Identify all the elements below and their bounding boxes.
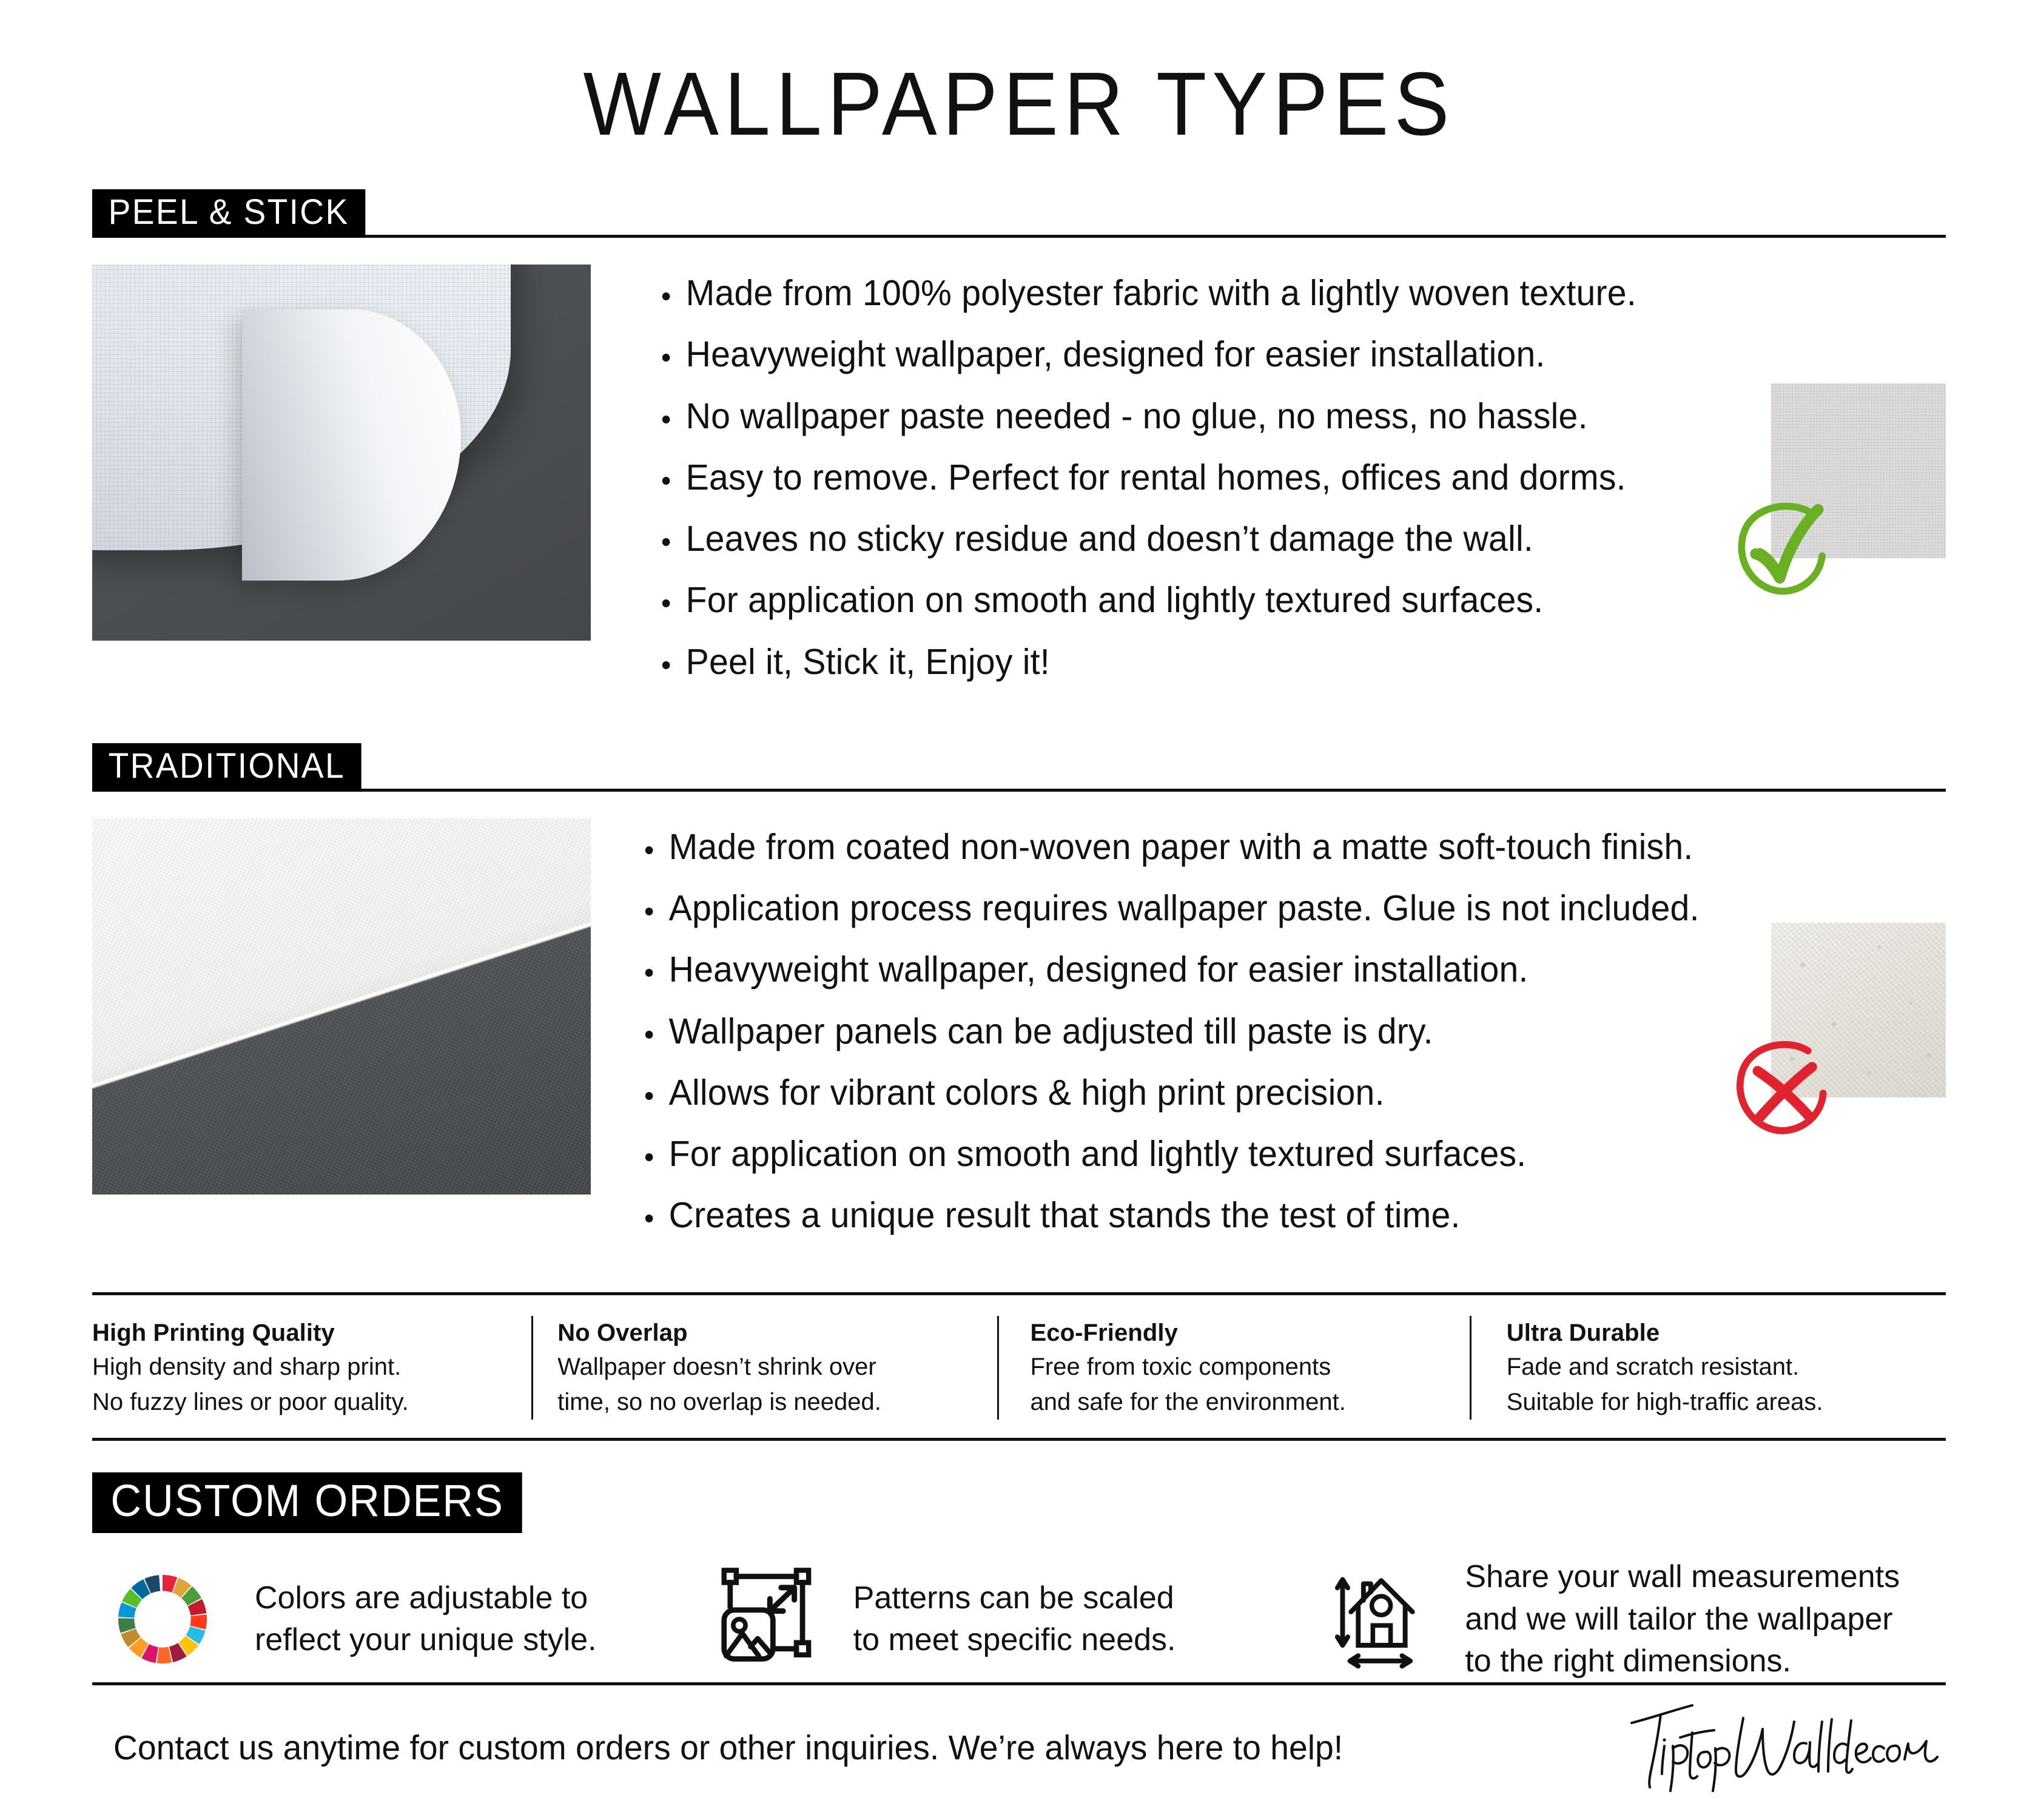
- feature-line: No fuzzy lines or poor quality.: [92, 1385, 507, 1420]
- image-resize-icon: [710, 1565, 832, 1673]
- custom-order-line: and we will tailor the wallpaper: [1465, 1599, 1900, 1640]
- custom-order-line: to meet specific needs.: [853, 1619, 1176, 1661]
- list-item: Allows for vibrant colors & high print p…: [642, 1073, 1907, 1113]
- list-item: Wallpaper panels can be adjusted till pa…: [642, 1011, 1907, 1052]
- product-block-traditional: Made from coated non-woven paper with a …: [92, 818, 1946, 1257]
- brand-logo: Tiptop Walldecor: [1624, 1702, 1946, 1793]
- section-header-custom-orders: CUSTOM ORDERS: [92, 1472, 1946, 1532]
- list-item: Made from 100% polyester fabric with a l…: [659, 273, 1907, 314]
- section-divider-rule: [92, 235, 1946, 238]
- feature-strip: High Printing Quality High density and s…: [92, 1292, 1946, 1441]
- custom-order-item-measurements: Share your wall measurements and we will…: [1328, 1556, 1946, 1682]
- peel-stick-sample-photo: [92, 265, 591, 641]
- traditional-swatch-group: [1771, 923, 1946, 1097]
- feature-line: Free from toxic components: [1031, 1350, 1445, 1385]
- list-item: Application process requires wallpaper p…: [642, 888, 1907, 929]
- feature-line: High density and sharp print.: [92, 1350, 507, 1385]
- section-header-traditional: TRADITIONAL: [92, 743, 1946, 792]
- section-divider-rule: [92, 789, 1946, 792]
- house-measure-icon: [1328, 1563, 1443, 1676]
- feature-line: time, so no overlap is needed.: [557, 1385, 972, 1420]
- feature-line: Wallpaper doesn’t shrink over: [557, 1350, 972, 1385]
- list-item: Heavyweight wallpaper, designed for easi…: [659, 334, 1907, 375]
- custom-order-line: Share your wall measurements: [1465, 1556, 1900, 1598]
- custom-orders-row: Colors are adjustable to reflect your un…: [92, 1556, 1946, 1682]
- page-title: WALLPAPER TYPES: [166, 0, 1872, 149]
- custom-order-text: Share your wall measurements and we will…: [1465, 1556, 1900, 1682]
- section-tag-label: PEEL & STICK: [92, 189, 365, 238]
- list-item: Easy to remove. Perfect for rental homes…: [659, 457, 1907, 498]
- list-item: Creates a unique result that stands the …: [642, 1195, 1907, 1236]
- feature-line: Fade and scratch resistant.: [1507, 1350, 1922, 1385]
- custom-order-text: Colors are adjustable to reflect your un…: [255, 1577, 597, 1661]
- list-item: For application on smooth and lightly te…: [659, 580, 1907, 621]
- custom-order-line: reflect your unique style.: [255, 1619, 597, 1661]
- custom-order-line: Colors are adjustable to: [255, 1577, 597, 1619]
- custom-order-line: to the right dimensions.: [1465, 1640, 1900, 1682]
- custom-order-line: Patterns can be scaled: [853, 1577, 1176, 1619]
- feature-line: and safe for the environment.: [1031, 1385, 1445, 1420]
- custom-order-text: Patterns can be scaled to meet specific …: [853, 1577, 1176, 1661]
- color-wheel-icon: [92, 1566, 233, 1673]
- list-item: Heavyweight wallpaper, designed for easi…: [642, 949, 1907, 990]
- product-block-peel-stick: Made from 100% polyester fabric with a l…: [92, 265, 1946, 703]
- peel-stick-swatch-group: [1771, 383, 1946, 558]
- photo-curl-layer: [242, 309, 462, 580]
- section-tag-label: TRADITIONAL: [92, 743, 362, 792]
- feature-title: No Overlap: [557, 1316, 972, 1350]
- photo-paper-edge: [92, 818, 591, 1195]
- brand-signature-icon: [1624, 1702, 1940, 1793]
- infographic-page: WALLPAPER TYPES PEEL & STICK Made from 1…: [0, 0, 2038, 1820]
- custom-order-item-colors: Colors are adjustable to reflect your un…: [92, 1566, 710, 1673]
- traditional-sample-photo: [92, 818, 591, 1195]
- feature-column-ultra-durable: Ultra Durable Fade and scratch resistant…: [1470, 1316, 1946, 1420]
- list-item: For application on smooth and lightly te…: [642, 1134, 1907, 1175]
- peel-stick-feature-list: Made from 100% polyester fabric with a l…: [591, 265, 1946, 703]
- list-item: No wallpaper paste needed - no glue, no …: [659, 396, 1907, 437]
- custom-order-item-patterns: Patterns can be scaled to meet specific …: [710, 1565, 1328, 1673]
- feature-column-eco-friendly: Eco-Friendly Free from toxic components …: [997, 1316, 1470, 1420]
- custom-orders-tag-label: CUSTOM ORDERS: [92, 1472, 522, 1533]
- footer: Contact us anytime for custom orders or …: [92, 1682, 1946, 1793]
- feature-column-high-printing-quality: High Printing Quality High density and s…: [92, 1316, 531, 1420]
- section-header-peel-stick: PEEL & STICK: [92, 189, 1946, 238]
- feature-line: Suitable for high-traffic areas.: [1507, 1385, 1922, 1420]
- feature-title: High Printing Quality: [92, 1316, 507, 1350]
- list-item: Leaves no sticky residue and doesn’t dam…: [659, 519, 1907, 559]
- feature-title: Ultra Durable: [1507, 1316, 1922, 1350]
- cross-badge-icon: [1734, 1037, 1834, 1137]
- list-item: Made from coated non-woven paper with a …: [642, 827, 1907, 868]
- check-badge-icon: [1734, 497, 1834, 598]
- feature-column-no-overlap: No Overlap Wallpaper doesn’t shrink over…: [531, 1316, 997, 1420]
- list-item: Peel it, Stick it, Enjoy it!: [659, 642, 1907, 682]
- feature-title: Eco-Friendly: [1031, 1316, 1445, 1350]
- footer-contact-text: Contact us anytime for custom orders or …: [92, 1729, 1578, 1767]
